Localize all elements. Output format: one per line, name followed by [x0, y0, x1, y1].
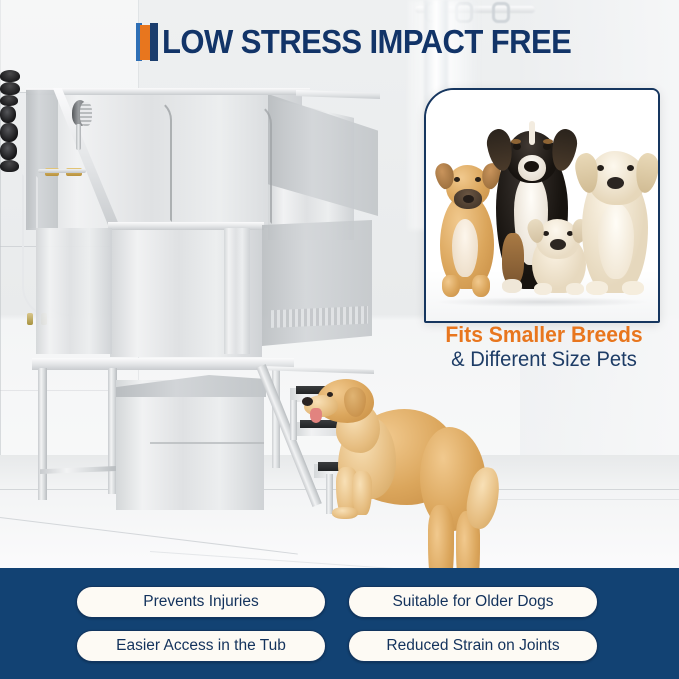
tub-lower-shelf-rail	[40, 466, 116, 474]
tub-frame-rail	[32, 358, 294, 370]
step-foot	[0, 160, 19, 172]
benefit-row-2: Easier Access in the Tub Reduced Strain …	[76, 630, 598, 662]
tub-foot-left	[0, 70, 20, 82]
tub-top-rail	[26, 88, 310, 95]
benefit-row-1: Prevents Injuries Suitable for Older Dog…	[76, 586, 598, 618]
storage-cabinet	[116, 380, 264, 510]
benefits-banner: Prevents Injuries Suitable for Older Dog…	[0, 568, 679, 679]
benefit-pill-reduced-strain[interactable]: Reduced Strain on Joints	[348, 630, 598, 662]
tub-door-post	[224, 228, 250, 354]
cabinet-caster-3	[0, 142, 17, 160]
inset-caption: Fits Smaller Breeds & Different Size Pet…	[424, 322, 664, 372]
cabinet-caster-2	[0, 123, 18, 142]
tub-left-cabinet	[36, 228, 112, 354]
dog-group-photo	[426, 115, 658, 315]
tub-foot-mid	[0, 82, 20, 95]
dog-group-shadow	[434, 297, 650, 307]
tub-foot-right	[0, 95, 18, 106]
benefit-pill-prevents-injuries[interactable]: Prevents Injuries	[76, 586, 326, 618]
tub-leg-front-left	[38, 368, 47, 500]
headline-block: LOW STRESS IMPACT FREE	[136, 20, 597, 64]
step-leg-left	[290, 400, 297, 440]
caption-line-1: Fits Smaller Breeds	[429, 322, 659, 347]
dog-sizes-inset-panel	[424, 88, 660, 323]
storage-cabinet-side	[116, 375, 266, 397]
caption-line-2: & Different Size Pets	[429, 347, 659, 372]
benefit-pill-suitable-older-dogs[interactable]: Suitable for Older Dogs	[348, 586, 598, 618]
cabinet-caster-1	[0, 106, 16, 123]
accent-bar-icon	[136, 23, 158, 61]
page-title: LOW STRESS IMPACT FREE	[162, 23, 571, 61]
product-marketing-poster: LOW STRESS IMPACT FREE	[0, 0, 679, 679]
product-grooming-tub-photo	[0, 70, 420, 570]
benefit-pill-easier-access[interactable]: Easier Access in the Tub	[76, 630, 326, 662]
